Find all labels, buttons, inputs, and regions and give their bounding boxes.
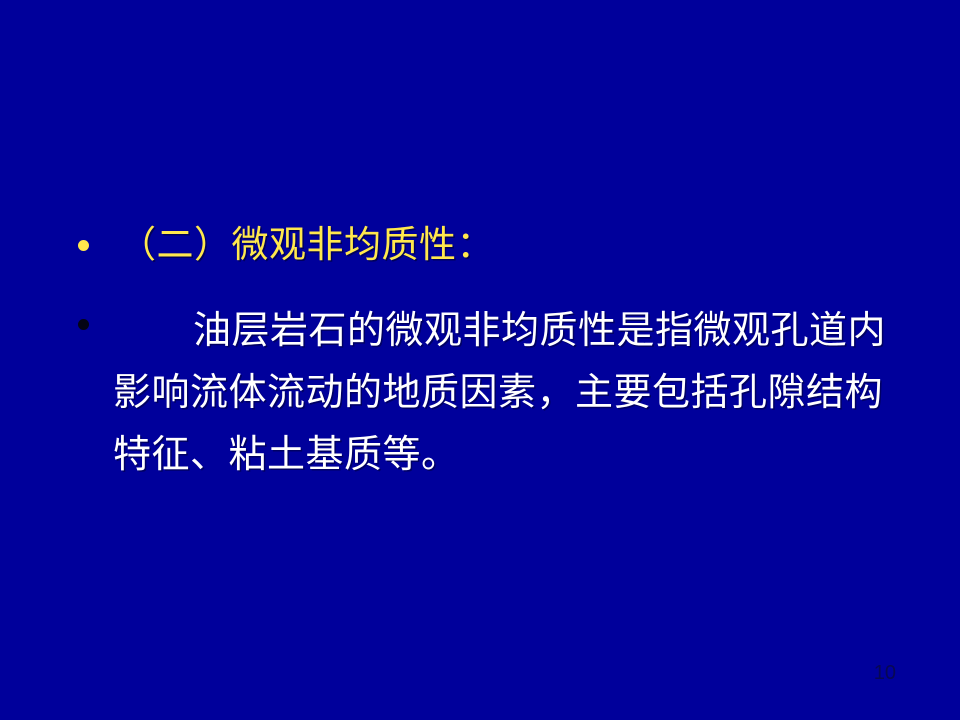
bullet-dot-icon [78,319,89,330]
body-bullet-row: 油层岩石的微观非均质性是指微观孔道内 影响流体流动的地质因素，主要包括孔隙结构 … [78,300,903,486]
heading-bullet-row: （二）微观非均质性： [78,222,494,270]
page-number: 10 [874,662,896,684]
body-paragraph: 油层岩石的微观非均质性是指微观孔道内 影响流体流动的地质因素，主要包括孔隙结构 … [113,300,903,486]
heading-text: （二）微观非均质性： [119,222,494,270]
bullet-dot-icon [78,240,89,251]
slide-canvas: （二）微观非均质性： 油层岩石的微观非均质性是指微观孔道内 影响流体流动的地质因… [0,0,960,720]
body-line: 特征、粘土基质等。 [113,424,903,486]
body-line: 影响流体流动的地质因素，主要包括孔隙结构 [113,362,903,424]
body-line: 油层岩石的微观非均质性是指微观孔道内 [113,300,903,362]
